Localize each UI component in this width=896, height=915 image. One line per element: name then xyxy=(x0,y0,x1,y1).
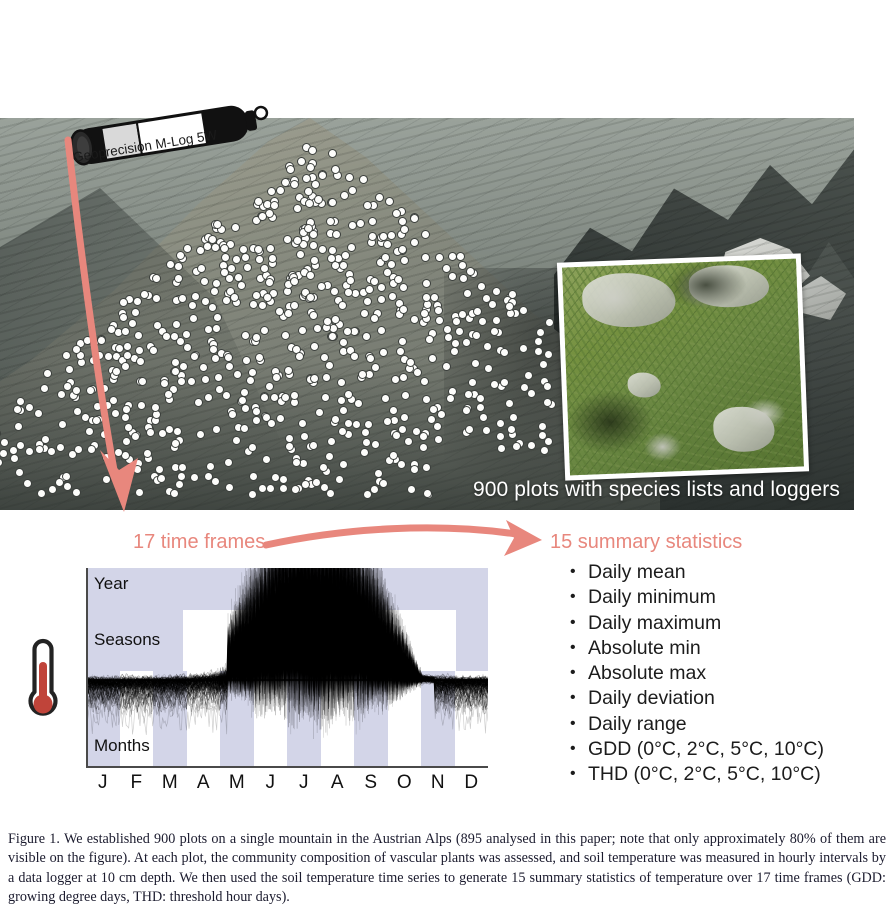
plot-dot xyxy=(359,175,368,184)
plot-dot xyxy=(140,290,149,299)
plot-dot xyxy=(505,302,514,311)
plot-dot xyxy=(62,472,71,481)
plot-dot xyxy=(383,240,392,249)
plot-dot xyxy=(151,403,160,412)
statistic-item-3: Absolute min xyxy=(566,636,896,661)
plot-dot xyxy=(215,385,224,394)
plot-dot xyxy=(9,446,18,455)
plot-dot xyxy=(321,393,330,402)
plot-dot xyxy=(301,480,310,489)
plot-dot xyxy=(290,180,299,189)
plot-dot xyxy=(65,365,74,374)
plot-dot xyxy=(319,463,328,472)
plot-dot xyxy=(397,460,406,469)
plot-dot xyxy=(281,393,290,402)
plot-dot xyxy=(164,390,173,399)
plot-dot xyxy=(41,435,50,444)
plot-dot xyxy=(527,389,536,398)
plot-dot xyxy=(339,406,348,415)
plot-dot xyxy=(183,244,192,253)
plot-dot xyxy=(296,250,305,259)
plot-dot xyxy=(459,274,468,283)
plot-dot xyxy=(399,305,408,314)
plot-dot xyxy=(213,220,222,229)
plot-dot xyxy=(204,472,213,481)
month-tick-10: N xyxy=(421,772,455,800)
plot-dot xyxy=(211,477,220,486)
plot-dot xyxy=(225,483,234,492)
plot-dot xyxy=(222,296,231,305)
plot-dot xyxy=(422,463,431,472)
month-tick-3: A xyxy=(187,772,221,800)
plot-dot xyxy=(56,443,65,452)
plot-dot xyxy=(308,146,317,155)
plot-area: Year Seasons Months xyxy=(86,568,488,766)
plot-dot xyxy=(434,306,443,315)
plot-dot xyxy=(377,295,386,304)
plot-dot xyxy=(455,327,464,336)
plot-dot xyxy=(191,292,200,301)
plot-dot xyxy=(428,354,437,363)
plot-dot xyxy=(73,407,82,416)
plot-dot xyxy=(338,427,347,436)
plot-dot xyxy=(234,273,243,282)
plot-dot xyxy=(331,415,340,424)
plot-dot xyxy=(442,362,451,371)
plot-dot xyxy=(423,489,432,498)
plot-dot xyxy=(444,333,453,342)
plot-dot xyxy=(13,405,22,414)
summary-statistics-list: Daily meanDaily minimumDaily maximumAbso… xyxy=(566,560,896,788)
plot-dot xyxy=(478,317,487,326)
plot-dot xyxy=(364,420,373,429)
plot-dot xyxy=(133,297,142,306)
statistic-item-2: Daily maximum xyxy=(566,611,896,636)
plot-dot xyxy=(387,231,396,240)
plot-dot xyxy=(252,407,261,416)
plot-dot xyxy=(111,409,120,418)
plot-dot xyxy=(371,440,380,449)
plot-dot xyxy=(379,479,388,488)
plot-dot xyxy=(344,288,353,297)
plot-dot xyxy=(315,408,324,417)
plot-dot xyxy=(381,253,390,262)
plot-dot xyxy=(496,419,505,428)
plot-dot xyxy=(190,352,199,361)
vegetation-inset-photo xyxy=(557,253,809,480)
plot-dot xyxy=(241,253,250,262)
plot-dot xyxy=(97,336,106,345)
plot-dot xyxy=(434,435,443,444)
plot-dot xyxy=(124,423,133,432)
plot-dot xyxy=(170,332,179,341)
plot-dot xyxy=(100,430,109,439)
plot-dot xyxy=(519,344,528,353)
plot-dot xyxy=(320,353,329,362)
plot-dot xyxy=(379,348,388,357)
plot-dot xyxy=(509,413,518,422)
plot-dot xyxy=(85,427,94,436)
plot-dot xyxy=(266,244,275,253)
plot-dot xyxy=(134,331,143,340)
plot-dot xyxy=(174,274,183,283)
plot-dot xyxy=(312,478,321,487)
plot-dot xyxy=(483,342,492,351)
statistic-item-8: THD (0°C, 2°C, 5°C, 10°C) xyxy=(566,762,896,787)
plot-dot xyxy=(254,197,263,206)
statistic-item-5: Daily deviation xyxy=(566,686,896,711)
plot-dot xyxy=(492,287,501,296)
plot-dot xyxy=(241,331,250,340)
month-tick-11: D xyxy=(455,772,489,800)
plot-dot xyxy=(410,238,419,247)
plot-dot xyxy=(327,254,336,263)
plot-dot xyxy=(398,337,407,346)
plot-dot xyxy=(354,399,363,408)
plot-dot xyxy=(318,171,327,180)
plot-dot xyxy=(356,219,365,228)
plot-dot xyxy=(241,404,250,413)
plot-dot xyxy=(462,406,471,415)
plot-dot xyxy=(102,475,111,484)
plot-dot xyxy=(233,370,242,379)
statistic-item-1: Daily minimum xyxy=(566,585,896,610)
plot-dot xyxy=(122,437,131,446)
plot-dot xyxy=(178,463,187,472)
plot-dot xyxy=(484,364,493,373)
plot-dot xyxy=(458,261,467,270)
month-tick-2: M xyxy=(153,772,187,800)
plot-dot xyxy=(212,279,221,288)
plot-dot xyxy=(212,324,221,333)
month-tick-0: J xyxy=(86,772,120,800)
statistic-item-7: GDD (0°C, 2°C, 5°C, 10°C) xyxy=(566,737,896,762)
plot-dot xyxy=(456,252,465,261)
plot-dot xyxy=(232,436,241,445)
plot-dot xyxy=(298,419,307,428)
tier-label-year: Year xyxy=(94,574,128,594)
plot-dot xyxy=(35,445,44,454)
plot-dot xyxy=(258,212,267,221)
statistic-item-4: Absolute max xyxy=(566,661,896,686)
arrow-timeframes-to-statistics xyxy=(266,520,542,556)
plot-dot xyxy=(410,214,419,223)
plot-dot xyxy=(310,256,319,265)
plot-dot xyxy=(446,394,455,403)
statistic-item-0: Daily mean xyxy=(566,560,896,585)
plot-dot xyxy=(338,301,347,310)
plot-dot xyxy=(225,362,234,371)
month-tick-8: S xyxy=(354,772,388,800)
tier-label-seasons: Seasons xyxy=(94,630,160,650)
plot-dot xyxy=(311,180,320,189)
month-tick-1: F xyxy=(120,772,154,800)
plot-dot xyxy=(328,332,337,341)
plot-dot xyxy=(231,223,240,232)
plot-dot xyxy=(540,446,549,455)
month-tick-5: J xyxy=(254,772,288,800)
plot-dot xyxy=(279,484,288,493)
plot-dot xyxy=(189,314,198,323)
plot-dot xyxy=(512,442,521,451)
plot-dot xyxy=(92,416,101,425)
plot-dot xyxy=(534,347,543,356)
tier-label-months: Months xyxy=(94,736,150,756)
plot-dot xyxy=(246,376,255,385)
plot-dot xyxy=(462,338,471,347)
plot-dot xyxy=(14,422,23,431)
plot-dot xyxy=(238,396,247,405)
plot-dot xyxy=(131,432,140,441)
plot-dot xyxy=(242,356,251,365)
plot-dot xyxy=(214,373,223,382)
plot-dot xyxy=(260,264,269,273)
month-tick-6: J xyxy=(287,772,321,800)
plot-dot xyxy=(448,272,457,281)
chart-axis-bottom xyxy=(86,766,488,768)
plot-dot xyxy=(360,448,369,457)
plot-dot xyxy=(497,444,506,453)
statistics-items: Daily meanDaily minimumDaily maximumAbso… xyxy=(566,560,896,788)
plot-dot xyxy=(265,278,274,287)
plot-dot xyxy=(328,246,337,255)
plot-dot xyxy=(174,262,183,271)
plot-dot xyxy=(103,401,112,410)
statistic-item-6: Daily range xyxy=(566,712,896,737)
thermometer-icon xyxy=(26,636,60,724)
plot-dot xyxy=(284,309,293,318)
plot-dot xyxy=(34,409,43,418)
plot-dot xyxy=(370,314,379,323)
plot-dot xyxy=(211,243,220,252)
month-tick-labels: JFMAMJJASOND xyxy=(86,772,488,800)
plot-dot xyxy=(327,437,336,446)
plot-dot xyxy=(63,382,72,391)
plot-dot xyxy=(177,377,186,386)
month-tick-9: O xyxy=(388,772,422,800)
plot-dot xyxy=(93,402,102,411)
plot-dot xyxy=(544,350,553,359)
plot-dot xyxy=(344,390,353,399)
plot-dot xyxy=(304,187,313,196)
plot-dot xyxy=(335,475,344,484)
inset-rock xyxy=(581,272,677,330)
statistics-label: 15 summary statistics xyxy=(550,531,742,554)
plot-dot xyxy=(425,335,434,344)
plot-dot xyxy=(468,378,477,387)
plot-dot xyxy=(204,393,213,402)
vegetation-image xyxy=(562,259,804,476)
plot-dot xyxy=(341,251,350,260)
plot-dot xyxy=(435,316,444,325)
plot-dot xyxy=(407,485,416,494)
plot-dot xyxy=(322,373,331,382)
plot-dot xyxy=(419,432,428,441)
plot-dot xyxy=(536,328,545,337)
plot-dot xyxy=(100,384,109,393)
plot-dot xyxy=(524,371,533,380)
plot-dot xyxy=(420,377,429,386)
data-logger-illustration: Geoprecision M-Log 5W xyxy=(52,88,282,192)
plot-dot xyxy=(383,417,392,426)
plot-dot xyxy=(450,347,459,356)
plot-dot xyxy=(500,348,509,357)
plot-dot xyxy=(309,241,318,250)
plot-dot xyxy=(206,462,215,471)
plot-dot xyxy=(123,351,132,360)
plot-dot xyxy=(472,331,481,340)
plot-dot xyxy=(400,413,409,422)
plot-dot xyxy=(505,399,514,408)
plot-dot xyxy=(160,379,169,388)
plot-dot xyxy=(385,197,394,206)
plot-dot xyxy=(500,378,509,387)
plot-dot xyxy=(135,346,144,355)
plot-dot xyxy=(368,232,377,241)
plot-dot xyxy=(72,488,81,497)
plot-dot xyxy=(196,430,205,439)
plot-dot xyxy=(40,384,49,393)
plot-dot xyxy=(72,386,81,395)
plot-dot xyxy=(62,351,71,360)
plot-dot xyxy=(304,224,313,233)
plot-dot xyxy=(286,165,295,174)
plot-dot xyxy=(267,419,276,428)
temperature-timeseries-chart: Year Seasons Months xyxy=(86,568,488,766)
plot-dot xyxy=(392,209,401,218)
plot-dot xyxy=(270,201,279,210)
plot-dot xyxy=(112,367,121,376)
plot-dot xyxy=(318,245,327,254)
plot-dot xyxy=(347,243,356,252)
plot-dot xyxy=(492,316,501,325)
plot-dot xyxy=(389,406,398,415)
plot-dot xyxy=(122,478,131,487)
plot-dot xyxy=(328,198,337,207)
plot-dot xyxy=(362,332,371,341)
chart-axis-left xyxy=(86,568,88,766)
plot-dot xyxy=(399,373,408,382)
plot-dot xyxy=(107,325,116,334)
plot-dot xyxy=(199,363,208,372)
plot-dot xyxy=(176,251,185,260)
plot-dot xyxy=(476,403,485,412)
plot-dot xyxy=(175,480,184,489)
plot-dot xyxy=(292,458,301,467)
plot-dot xyxy=(328,149,337,158)
plot-dot xyxy=(297,157,306,166)
plot-dot xyxy=(228,410,237,419)
plot-dot xyxy=(377,326,386,335)
plot-dot xyxy=(383,268,392,277)
plot-dot xyxy=(543,398,552,407)
plot-dot xyxy=(363,490,372,499)
plot-dot xyxy=(201,375,210,384)
plot-dot xyxy=(283,235,292,244)
plot-dot xyxy=(114,448,123,457)
month-tick-7: A xyxy=(321,772,355,800)
plot-dot xyxy=(249,300,258,309)
plot-dot xyxy=(394,275,403,284)
inset-rock xyxy=(713,405,776,453)
plot-dot xyxy=(255,353,264,362)
plot-dot xyxy=(488,300,497,309)
plot-dot xyxy=(309,441,318,450)
plot-dot xyxy=(119,313,128,322)
plot-dot xyxy=(348,186,357,195)
plot-dot xyxy=(171,367,180,376)
plot-dot xyxy=(87,445,96,454)
plot-dot xyxy=(332,230,341,239)
plot-dot xyxy=(143,449,152,458)
photo-caption: 900 plots with species lists and loggers xyxy=(473,478,840,502)
plot-dot xyxy=(293,236,302,245)
plot-dot xyxy=(128,319,137,328)
figure-caption: Figure 1. We established 900 plots on a … xyxy=(8,830,886,907)
plot-dot xyxy=(25,403,34,412)
plot-dot xyxy=(363,297,372,306)
plot-dot xyxy=(430,293,439,302)
plot-dot xyxy=(421,253,430,262)
plot-dot xyxy=(227,264,236,273)
plot-dot xyxy=(442,264,451,273)
plot-dot xyxy=(314,195,323,204)
plot-dot xyxy=(458,310,467,319)
plot-dot xyxy=(86,386,95,395)
plot-dot xyxy=(365,285,374,294)
plot-dot xyxy=(37,489,46,498)
inset-shadow xyxy=(665,261,746,310)
timeframes-label: 17 time frames xyxy=(133,531,265,554)
plot-dot xyxy=(375,193,384,202)
plot-dot xyxy=(479,413,488,422)
plot-dot xyxy=(339,460,348,469)
plot-dot xyxy=(490,327,499,336)
plot-dot xyxy=(421,230,430,239)
month-tick-4: M xyxy=(220,772,254,800)
plot-dot xyxy=(392,431,401,440)
inset-shadow xyxy=(567,389,654,455)
plot-dot xyxy=(133,465,142,474)
plot-dot xyxy=(248,490,257,499)
plot-dot xyxy=(422,279,431,288)
plot-dot xyxy=(527,441,536,450)
plot-dot xyxy=(352,420,361,429)
plot-dot xyxy=(306,163,315,172)
plot-dot xyxy=(306,271,315,280)
plot-dot xyxy=(410,465,419,474)
plot-dot xyxy=(370,277,379,286)
plot-dot xyxy=(381,394,390,403)
plot-dot xyxy=(400,225,409,234)
plot-dot xyxy=(0,449,8,458)
plot-dot xyxy=(437,410,446,419)
plot-dot xyxy=(543,382,552,391)
plot-dot xyxy=(252,416,261,425)
plot-dot xyxy=(291,485,300,494)
plot-dot xyxy=(25,447,34,456)
